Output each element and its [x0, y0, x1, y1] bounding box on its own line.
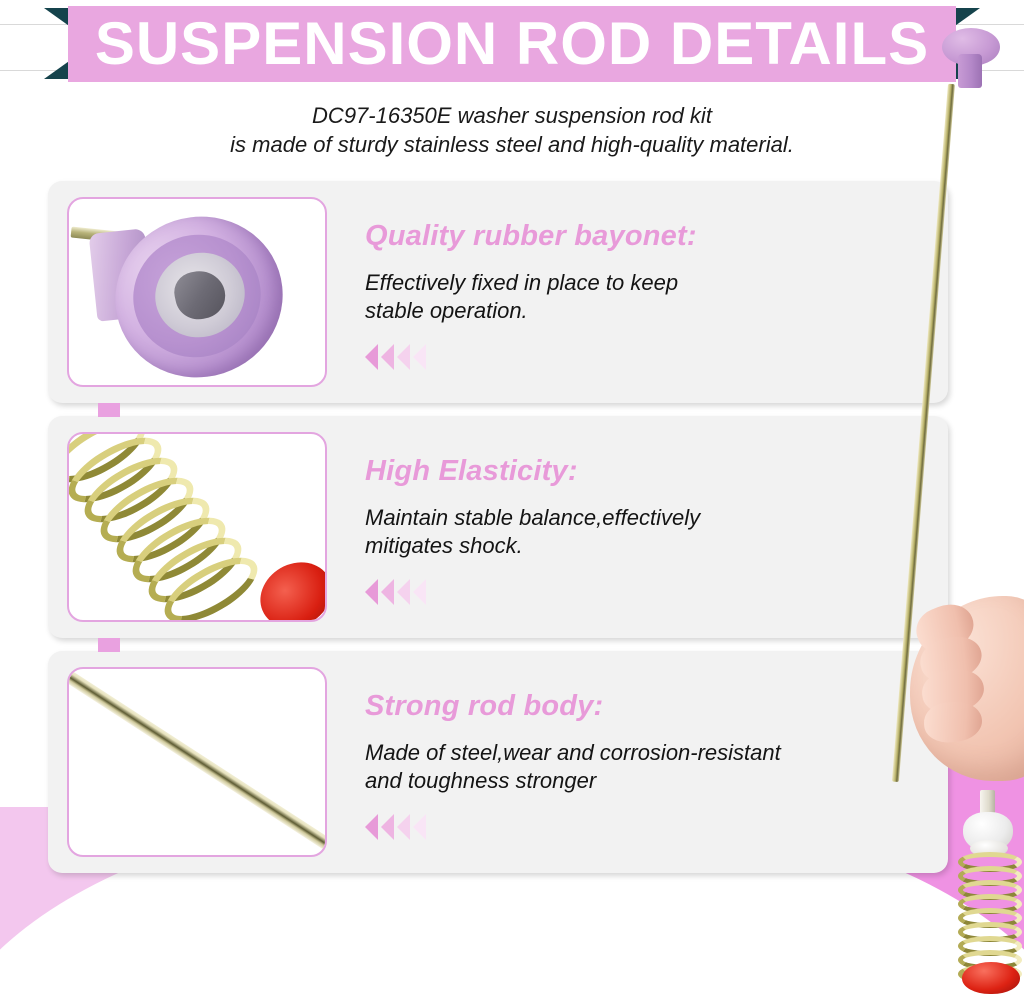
chevron-left-icon — [381, 814, 394, 840]
chevron-left-icon — [365, 344, 378, 370]
steel-rod-shaft — [67, 667, 327, 857]
card-description: Made of steel,wear and corrosion-resista… — [365, 739, 948, 794]
chevron-left-icon — [397, 344, 410, 370]
card-title: Quality rubber bayonet: — [365, 220, 948, 253]
card-description-line-2: and toughness stronger — [365, 767, 948, 795]
card-description: Maintain stable balance,effectively miti… — [365, 504, 948, 559]
feature-card-list: Quality rubber bayonet: Effectively fixe… — [0, 181, 1024, 873]
subtitle-line-2: is made of sturdy stainless steel and hi… — [90, 131, 934, 160]
coil-spring-photo — [67, 432, 327, 622]
chevron-left-icon — [381, 579, 394, 605]
card-description-line-1: Maintain stable balance,effectively — [365, 504, 948, 532]
card-body: Quality rubber bayonet: Effectively fixe… — [365, 214, 948, 370]
chevron-left-icon — [413, 579, 426, 605]
card-body: Strong rod body: Made of steel,wear and … — [365, 684, 948, 840]
subtitle-block: DC97-16350E washer suspension rod kit is… — [0, 102, 1024, 159]
chevron-decoration — [365, 579, 948, 605]
feature-card-strong-rod-body: Strong rod body: Made of steel,wear and … — [48, 651, 948, 873]
chevron-left-icon — [413, 344, 426, 370]
feature-card-rubber-bayonet: Quality rubber bayonet: Effectively fixe… — [48, 181, 948, 403]
chevron-left-icon — [381, 344, 394, 370]
spring-coils — [69, 434, 325, 620]
chevron-left-icon — [397, 579, 410, 605]
spring-red-cap — [248, 550, 327, 622]
card-description: Effectively fixed in place to keep stabl… — [365, 269, 948, 324]
card-body: High Elasticity: Maintain stable balance… — [365, 449, 948, 605]
card-connector-1 — [98, 403, 120, 417]
steel-rod-photo — [67, 667, 327, 857]
card-description-line-2: stable operation. — [365, 297, 948, 325]
card-connector-2 — [98, 638, 120, 652]
chevron-left-icon — [397, 814, 410, 840]
chevron-decoration — [365, 814, 948, 840]
card-description-line-1: Made of steel,wear and corrosion-resista… — [365, 739, 948, 767]
page-title: SUSPENSION ROD DETAILS — [95, 14, 929, 74]
card-description-line-1: Effectively fixed in place to keep — [365, 269, 948, 297]
card-title: High Elasticity: — [365, 455, 948, 488]
title-bar: SUSPENSION ROD DETAILS — [68, 6, 956, 82]
chevron-left-icon — [413, 814, 426, 840]
chevron-decoration — [365, 344, 948, 370]
chevron-left-icon — [365, 814, 378, 840]
feature-card-high-elasticity: High Elasticity: Maintain stable balance… — [48, 416, 948, 638]
chevron-left-icon — [365, 579, 378, 605]
card-description-line-2: mitigates shock. — [365, 532, 948, 560]
card-title: Strong rod body: — [365, 690, 948, 723]
subtitle-line-1: DC97-16350E washer suspension rod kit — [90, 102, 934, 131]
rubber-bayonet-photo — [67, 197, 327, 387]
header-banner: SUSPENSION ROD DETAILS — [0, 0, 1024, 92]
